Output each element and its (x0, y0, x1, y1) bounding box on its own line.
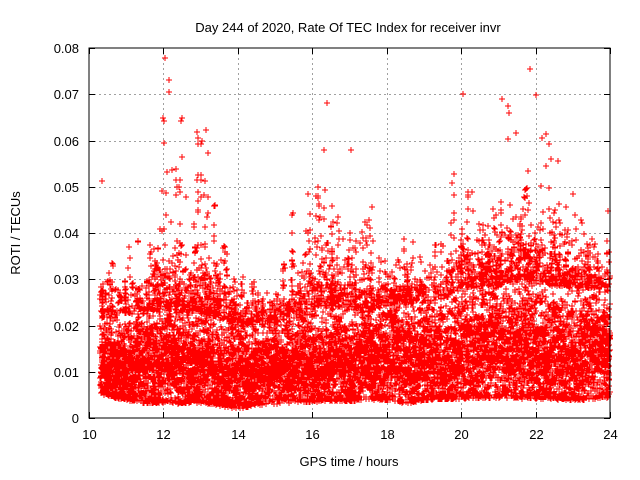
x-tick-label: 22 (529, 427, 543, 442)
y-tick-label: 0.01 (54, 365, 79, 380)
x-tick-label: 20 (454, 427, 468, 442)
y-tick-label: 0.07 (54, 87, 79, 102)
roti-scatter-chart: Day 244 of 2020, Rate Of TEC Index for r… (0, 0, 640, 480)
y-axis-title: ROTI / TECUs (8, 191, 23, 275)
y-tick-label: 0 (72, 411, 79, 426)
x-tick-label: 24 (603, 427, 617, 442)
y-tick-label: 0.08 (54, 41, 79, 56)
x-tick-label: 12 (156, 427, 170, 442)
chart-title: Day 244 of 2020, Rate Of TEC Index for r… (195, 20, 501, 35)
chart-figure: Day 244 of 2020, Rate Of TEC Index for r… (0, 0, 640, 480)
y-tick-label: 0.06 (54, 134, 79, 149)
y-axis-tick-labels: 00.010.020.030.040.050.060.070.08 (54, 41, 79, 426)
y-tick-label: 0.04 (54, 226, 79, 241)
x-tick-label: 10 (82, 427, 96, 442)
x-tick-label: 18 (380, 427, 394, 442)
x-tick-label: 16 (305, 427, 319, 442)
x-axis-title: GPS time / hours (300, 454, 399, 469)
y-tick-label: 0.05 (54, 180, 79, 195)
y-tick-label: 0.03 (54, 272, 79, 287)
y-tick-label: 0.02 (54, 319, 79, 334)
x-tick-label: 14 (231, 427, 245, 442)
